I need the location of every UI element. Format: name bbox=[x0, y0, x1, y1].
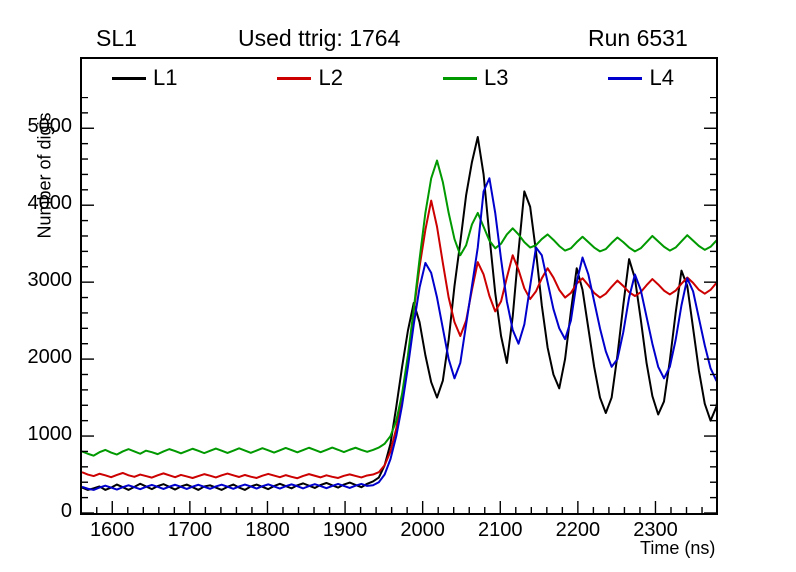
legend-entry-l3[interactable]: L3 bbox=[443, 67, 508, 89]
legend-line-icon bbox=[112, 77, 146, 80]
legend-entry-l2[interactable]: L2 bbox=[277, 67, 342, 89]
superlayer-label: SL1 bbox=[96, 25, 137, 52]
legend-label: L4 bbox=[649, 67, 673, 89]
x-tick-label: 2000 bbox=[388, 519, 458, 542]
ttrig-label: Used ttrig: 1764 bbox=[238, 25, 400, 52]
legend-line-icon bbox=[277, 77, 311, 80]
run-label: Run 6531 bbox=[588, 25, 688, 52]
legend-line-icon bbox=[443, 77, 477, 80]
y-tick-label: 4000 bbox=[10, 192, 72, 215]
x-tick-label: 1600 bbox=[77, 519, 147, 542]
legend-line-icon bbox=[608, 77, 642, 80]
series-l2 bbox=[82, 201, 716, 509]
y-tick-label: 2000 bbox=[10, 346, 72, 369]
legend-label: L3 bbox=[484, 67, 508, 89]
x-tick-label: 1700 bbox=[155, 519, 225, 542]
x-tick-label: 2300 bbox=[620, 519, 690, 542]
x-tick-label: 2200 bbox=[543, 519, 613, 542]
plot-frame bbox=[80, 57, 718, 515]
legend-entry-l4[interactable]: L4 bbox=[608, 67, 673, 89]
series-l3 bbox=[82, 161, 716, 510]
y-tick-label: 1000 bbox=[10, 423, 72, 446]
data-curves bbox=[82, 59, 716, 513]
y-tick-label: 5000 bbox=[10, 115, 72, 138]
plot-canvas: SL1 Used ttrig: 1764 Run 6531 Number of … bbox=[0, 0, 796, 572]
y-tick-label: 3000 bbox=[10, 269, 72, 292]
y-axis-title: Number of digis bbox=[35, 76, 56, 276]
x-tick-label: 1900 bbox=[310, 519, 380, 542]
legend-label: L2 bbox=[318, 67, 342, 89]
series-l1 bbox=[82, 137, 716, 511]
legend: L1L2L3L4 bbox=[82, 59, 716, 97]
x-tick-label: 2100 bbox=[465, 519, 535, 542]
x-tick-label: 1800 bbox=[232, 519, 302, 542]
legend-entry-l1[interactable]: L1 bbox=[112, 67, 177, 89]
legend-label: L1 bbox=[153, 67, 177, 89]
series-l4 bbox=[82, 178, 716, 511]
y-tick-label: 0 bbox=[10, 500, 72, 523]
